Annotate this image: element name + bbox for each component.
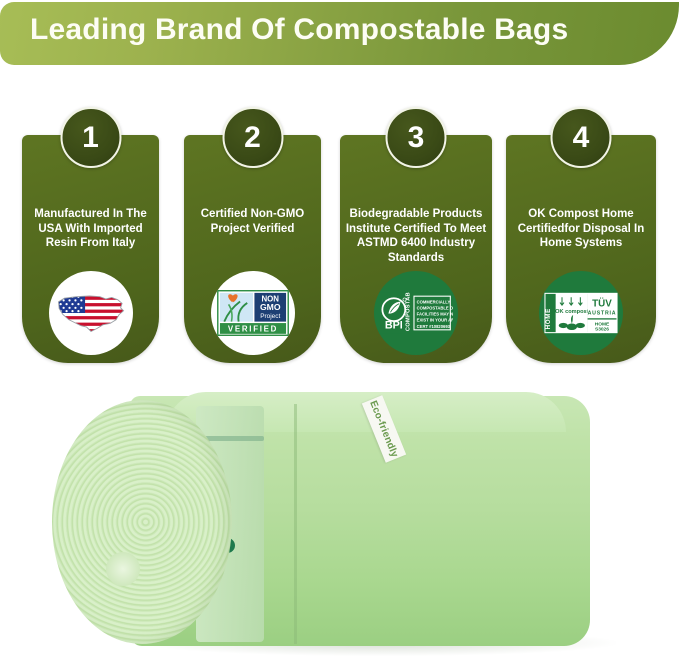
feature-card-row: 1 Manufactured In The USA With Imported … [0, 105, 679, 370]
ok-compost-home-tuv-austria-icon: HOME OK compost TÜV AUSTRIA [543, 291, 619, 335]
step-number-badge-2: 2 [222, 107, 283, 168]
feature-card-4-text: OK Compost Home Certifiedfor Disposal In… [510, 207, 652, 251]
usa-flag-map-icon [54, 290, 128, 336]
step-number-badge-1: 1 [60, 107, 121, 168]
tuv-brand-label: TÜV [592, 298, 612, 309]
feature-card-3-logo: BPI COMPOSTABLE COMMERCIALLY COMPOSTABLE… [374, 271, 458, 355]
bpi-fine-2: COMPOSTABLE ONLY. [417, 306, 453, 311]
feature-card-3[interactable]: 3 Biodegradable Products Institute Certi… [340, 135, 492, 363]
tuv-cert-line-1: HOME [595, 321, 610, 327]
okcompost-label: OK compost [555, 309, 589, 315]
non-gmo-project-verified-icon: NON GMO Project VERIFIED [217, 290, 289, 336]
feature-card-4-logo: HOME OK compost TÜV AUSTRIA [539, 271, 623, 355]
feature-card-1[interactable]: 1 Manufactured In The USA With Imported … [22, 135, 159, 363]
bpi-fine-3: FACILITIES MAY NOT [417, 312, 453, 317]
feature-card-2-logo: NON GMO Project VERIFIED [211, 271, 295, 355]
step-number-3: 3 [408, 123, 425, 153]
step-number-badge-4: 4 [551, 107, 612, 168]
feature-card-3-text: Biodegradable Products Institute Certifi… [344, 207, 488, 265]
bpi-side-label: COMPOSTABLE [405, 292, 411, 331]
bag-roll-core [106, 552, 140, 586]
step-number-4: 4 [573, 123, 590, 153]
bpi-brand-label: BPI [385, 319, 403, 331]
step-number-2: 2 [244, 123, 261, 153]
okcompost-vertical-label: HOME [545, 308, 552, 329]
bpi-fine-5: CERT #10820693 [417, 324, 451, 329]
feature-card-1-text: Manufactured In The USA With Imported Re… [26, 207, 155, 251]
bpi-compostable-icon: BPI COMPOSTABLE COMMERCIALLY COMPOSTABLE… [379, 292, 453, 334]
feature-card-2-text: Certified Non-GMO Project Verified [188, 207, 317, 236]
tuv-cert-line-2: S3026 [595, 327, 609, 333]
step-number-1: 1 [82, 123, 99, 153]
bag-roll-seam [294, 404, 297, 644]
bpi-fine-1: COMMERCIALLY [417, 300, 451, 305]
page-title: Leading Brand Of Compostable Bags [30, 13, 660, 47]
feature-card-1-logo [49, 271, 133, 355]
nongmo-line-2: GMO [259, 302, 280, 312]
bag-roll-strip-line [202, 436, 264, 441]
tuv-austria-label: AUSTRIA [588, 310, 617, 316]
step-number-badge-3: 3 [386, 107, 447, 168]
bpi-fine-4: EXIST IN YOUR AREA. [417, 318, 453, 323]
nongmo-verified-label: VERIFIED [227, 324, 277, 333]
product-image [46, 378, 646, 668]
bag-roll-coil-end [52, 400, 232, 644]
feature-card-4[interactable]: 4 OK Compost Home Certifiedfor Disposal … [506, 135, 656, 363]
nongmo-line-3: Project [260, 313, 280, 320]
feature-card-2[interactable]: 2 Certified Non-GMO Project Verified NON… [184, 135, 321, 363]
header-banner: Leading Brand Of Compostable Bags [0, 2, 679, 65]
